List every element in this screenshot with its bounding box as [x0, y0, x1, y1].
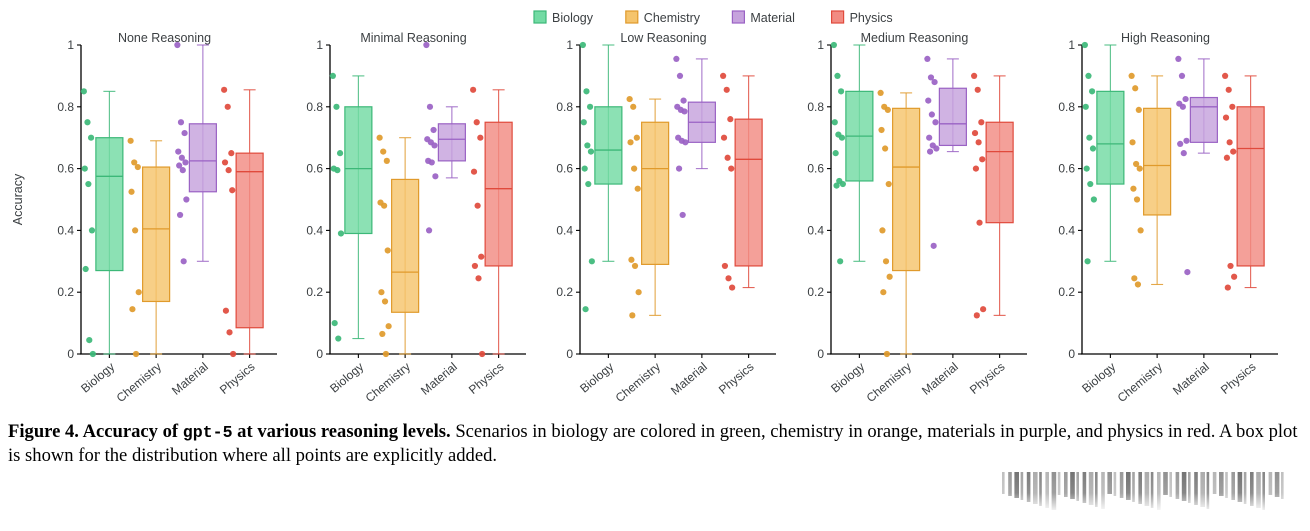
- y-tick-label: 0.2: [57, 285, 74, 299]
- data-point[interactable]: [924, 56, 930, 62]
- data-point[interactable]: [833, 182, 839, 188]
- panel-title: Medium Reasoning: [861, 31, 969, 45]
- data-point[interactable]: [680, 98, 686, 104]
- data-point[interactable]: [181, 258, 187, 264]
- data-point[interactable]: [177, 212, 183, 218]
- box-rect[interactable]: [595, 107, 622, 184]
- data-point[interactable]: [85, 181, 91, 187]
- data-point[interactable]: [582, 166, 588, 172]
- data-point[interactable]: [475, 275, 481, 281]
- legend-label-physics: Physics: [850, 11, 893, 25]
- y-tick-label: 1: [67, 38, 74, 52]
- data-point[interactable]: [673, 56, 679, 62]
- data-point[interactable]: [386, 323, 392, 329]
- data-point[interactable]: [129, 306, 135, 312]
- data-point[interactable]: [635, 186, 641, 192]
- data-point[interactable]: [478, 254, 484, 260]
- data-point[interactable]: [925, 98, 931, 104]
- box-group-chemistry[interactable]: [1129, 73, 1171, 288]
- data-point[interactable]: [1131, 275, 1137, 281]
- y-tick-label: 0.4: [306, 223, 323, 237]
- data-point[interactable]: [1129, 139, 1135, 145]
- data-point[interactable]: [1091, 196, 1097, 202]
- legend-swatch-physics: [832, 11, 844, 23]
- data-point[interactable]: [837, 258, 843, 264]
- data-point[interactable]: [226, 167, 232, 173]
- data-point[interactable]: [83, 266, 89, 272]
- data-point[interactable]: [1175, 56, 1181, 62]
- data-point[interactable]: [181, 130, 187, 136]
- data-point[interactable]: [1136, 107, 1142, 113]
- data-point[interactable]: [423, 42, 429, 48]
- data-point[interactable]: [1130, 186, 1136, 192]
- data-point[interactable]: [333, 104, 339, 110]
- data-point[interactable]: [378, 289, 384, 295]
- x-tick-label-material: Material: [668, 360, 710, 398]
- panel-title: Low Reasoning: [620, 31, 706, 45]
- data-point[interactable]: [332, 320, 338, 326]
- y-tick-label: 0.8: [556, 100, 573, 114]
- x-tick-label-physics: Physics: [716, 360, 757, 397]
- box-rect[interactable]: [893, 108, 920, 270]
- y-tick-label: 0: [67, 347, 74, 361]
- y-tick-label: 0.2: [556, 285, 573, 299]
- data-point[interactable]: [479, 351, 485, 357]
- data-point[interactable]: [1083, 104, 1089, 110]
- data-point[interactable]: [385, 247, 391, 253]
- box-group-material[interactable]: [673, 56, 715, 218]
- x-tick-label-biology: Biology: [327, 360, 366, 396]
- data-point[interactable]: [88, 135, 94, 141]
- data-point[interactable]: [931, 243, 937, 249]
- data-point[interactable]: [973, 166, 979, 172]
- panel-high: High Reasoning00.20.40.60.81BiologyChemi…: [1058, 31, 1278, 405]
- data-point[interactable]: [221, 87, 227, 93]
- data-point[interactable]: [1132, 85, 1138, 91]
- data-point[interactable]: [681, 108, 687, 114]
- y-tick-label: 0.6: [57, 162, 74, 176]
- x-tick-label-chemistry: Chemistry: [613, 360, 663, 405]
- data-point[interactable]: [182, 159, 188, 165]
- x-tick-label-physics: Physics: [967, 360, 1008, 397]
- data-point[interactable]: [427, 104, 433, 110]
- data-point[interactable]: [978, 119, 984, 125]
- x-tick-label-chemistry: Chemistry: [864, 360, 914, 405]
- legend-item-physics: Physics: [832, 11, 893, 25]
- data-point[interactable]: [976, 139, 982, 145]
- data-point[interactable]: [178, 119, 184, 125]
- box-rect[interactable]: [1190, 98, 1217, 143]
- data-point[interactable]: [1137, 166, 1143, 172]
- x-tick-label-biology: Biology: [577, 360, 616, 396]
- legend-label-biology: Biology: [552, 11, 594, 25]
- data-point[interactable]: [1084, 166, 1090, 172]
- box-group-physics[interactable]: [470, 87, 512, 357]
- y-tick-label: 0.6: [1058, 162, 1075, 176]
- data-point[interactable]: [180, 167, 186, 173]
- box-group-material[interactable]: [174, 42, 216, 265]
- data-point[interactable]: [931, 79, 937, 85]
- y-tick-label: 0.2: [807, 285, 824, 299]
- caption-model-name: gpt-5: [183, 423, 233, 442]
- y-tick-label: 0.8: [57, 100, 74, 114]
- data-point[interactable]: [175, 149, 181, 155]
- data-point[interactable]: [972, 130, 978, 136]
- data-point[interactable]: [636, 289, 642, 295]
- data-point[interactable]: [1087, 181, 1093, 187]
- data-point[interactable]: [90, 351, 96, 357]
- box-group-physics[interactable]: [1222, 73, 1264, 291]
- data-point[interactable]: [430, 127, 436, 133]
- y-tick-label: 0.2: [306, 285, 323, 299]
- data-point[interactable]: [976, 220, 982, 226]
- data-point[interactable]: [86, 337, 92, 343]
- data-point[interactable]: [1183, 138, 1189, 144]
- data-point[interactable]: [581, 119, 587, 125]
- box-rect[interactable]: [986, 122, 1013, 222]
- data-point[interactable]: [839, 135, 845, 141]
- data-point[interactable]: [832, 119, 838, 125]
- data-point[interactable]: [335, 335, 341, 341]
- x-tick-label-biology: Biology: [828, 360, 867, 396]
- y-tick-label: 1: [1068, 38, 1075, 52]
- figure-number: Figure 4: [8, 421, 74, 442]
- data-point[interactable]: [933, 145, 939, 151]
- data-point[interactable]: [477, 135, 483, 141]
- box-rect[interactable]: [1237, 107, 1264, 266]
- y-tick-label: 1: [566, 38, 573, 52]
- box-group-chemistry[interactable]: [377, 135, 419, 358]
- data-point[interactable]: [629, 312, 635, 318]
- y-tick-label: 0.6: [306, 162, 323, 176]
- data-point[interactable]: [382, 298, 388, 304]
- data-point[interactable]: [630, 104, 636, 110]
- data-point[interactable]: [980, 306, 986, 312]
- box-group-biology[interactable]: [1082, 42, 1124, 265]
- data-point[interactable]: [426, 227, 432, 233]
- data-point[interactable]: [225, 104, 231, 110]
- data-point[interactable]: [628, 257, 634, 263]
- box-rect[interactable]: [189, 124, 216, 192]
- data-point[interactable]: [384, 158, 390, 164]
- y-tick-label: 0: [1068, 347, 1075, 361]
- x-tick-label-chemistry: Chemistry: [363, 360, 413, 405]
- legend-swatch-material: [732, 11, 744, 23]
- data-point[interactable]: [927, 149, 933, 155]
- data-point[interactable]: [381, 203, 387, 209]
- data-point[interactable]: [1227, 263, 1233, 269]
- y-tick-label: 1: [316, 38, 323, 52]
- data-point[interactable]: [584, 142, 590, 148]
- data-point[interactable]: [472, 263, 478, 269]
- data-point[interactable]: [1082, 42, 1088, 48]
- data-point[interactable]: [680, 212, 686, 218]
- data-point[interactable]: [831, 42, 837, 48]
- panel-medium: Medium Reasoning00.20.40.60.81BiologyChe…: [807, 31, 1027, 405]
- panel-low: Low Reasoning00.20.40.60.81BiologyChemis…: [556, 31, 776, 405]
- data-point[interactable]: [721, 135, 727, 141]
- data-point[interactable]: [883, 258, 889, 264]
- data-point[interactable]: [337, 150, 343, 156]
- data-point[interactable]: [1184, 269, 1190, 275]
- data-point[interactable]: [1229, 104, 1235, 110]
- box-rect[interactable]: [642, 122, 669, 264]
- data-point[interactable]: [432, 173, 438, 179]
- data-point[interactable]: [886, 181, 892, 187]
- x-tick-label-physics: Physics: [466, 360, 507, 397]
- box-rect[interactable]: [485, 122, 512, 266]
- box-group-biology[interactable]: [81, 88, 123, 357]
- data-point[interactable]: [879, 227, 885, 233]
- y-tick-label: 0.2: [1058, 285, 1075, 299]
- panel-title: High Reasoning: [1121, 31, 1210, 45]
- box-rect[interactable]: [735, 119, 762, 266]
- data-point[interactable]: [885, 107, 891, 113]
- box-group-chemistry[interactable]: [128, 138, 170, 357]
- x-tick-label-physics: Physics: [217, 360, 258, 397]
- y-tick-label: 0.4: [1058, 223, 1075, 237]
- caption-title-a: Accuracy of: [83, 421, 183, 442]
- x-tick-label-material: Material: [919, 360, 961, 398]
- y-tick-label: 0.6: [807, 162, 824, 176]
- box-rect[interactable]: [1097, 91, 1124, 184]
- data-point[interactable]: [132, 227, 138, 233]
- data-point[interactable]: [724, 87, 730, 93]
- box-rect[interactable]: [345, 107, 372, 234]
- data-point[interactable]: [634, 135, 640, 141]
- box-rect[interactable]: [96, 138, 123, 271]
- box-group-biology[interactable]: [330, 73, 372, 342]
- legend-label-chemistry: Chemistry: [644, 11, 701, 25]
- data-point[interactable]: [471, 169, 477, 175]
- data-point[interactable]: [228, 150, 234, 156]
- data-point[interactable]: [1138, 227, 1144, 233]
- data-point[interactable]: [979, 156, 985, 162]
- box-group-biology[interactable]: [831, 42, 873, 265]
- data-point[interactable]: [833, 150, 839, 156]
- data-point[interactable]: [1181, 150, 1187, 156]
- data-point[interactable]: [974, 312, 980, 318]
- data-point[interactable]: [338, 230, 344, 236]
- data-point[interactable]: [589, 258, 595, 264]
- legend-label-material: Material: [750, 11, 794, 25]
- data-point[interactable]: [834, 73, 840, 79]
- data-point[interactable]: [971, 73, 977, 79]
- data-point[interactable]: [183, 196, 189, 202]
- data-point[interactable]: [1084, 258, 1090, 264]
- box-rect[interactable]: [1144, 108, 1171, 215]
- legend-item-biology: Biology: [534, 11, 594, 25]
- data-point[interactable]: [222, 159, 228, 165]
- data-point[interactable]: [887, 274, 893, 280]
- caption-sep: .: [74, 421, 82, 442]
- data-point[interactable]: [728, 166, 734, 172]
- data-point[interactable]: [334, 167, 340, 173]
- box-group-biology[interactable]: [580, 42, 622, 312]
- data-point[interactable]: [587, 104, 593, 110]
- data-point[interactable]: [330, 73, 336, 79]
- data-point[interactable]: [1086, 135, 1092, 141]
- legend-item-chemistry: Chemistry: [626, 11, 701, 25]
- data-point[interactable]: [631, 166, 637, 172]
- data-point[interactable]: [840, 181, 846, 187]
- data-point[interactable]: [880, 289, 886, 295]
- box-group-physics[interactable]: [221, 87, 263, 357]
- data-point[interactable]: [627, 96, 633, 102]
- data-point[interactable]: [223, 308, 229, 314]
- data-point[interactable]: [729, 284, 735, 290]
- data-point[interactable]: [133, 351, 139, 357]
- data-point[interactable]: [1223, 115, 1229, 121]
- data-point[interactable]: [1129, 73, 1135, 79]
- data-point[interactable]: [226, 329, 232, 335]
- y-tick-label: 0.8: [1058, 100, 1075, 114]
- legend-swatch-chemistry: [626, 11, 638, 23]
- data-point[interactable]: [1135, 281, 1141, 287]
- x-tick-label-biology: Biology: [1079, 360, 1118, 396]
- data-point[interactable]: [84, 119, 90, 125]
- data-point[interactable]: [627, 139, 633, 145]
- box-rect[interactable]: [143, 167, 170, 301]
- data-point[interactable]: [379, 331, 385, 337]
- panel-none: None Reasoning00.20.40.60.81BiologyChemi…: [57, 31, 277, 405]
- y-axis-title: Accuracy: [11, 173, 25, 225]
- data-point[interactable]: [431, 142, 437, 148]
- y-tick-label: 0.4: [556, 223, 573, 237]
- figure-caption: Figure 4. Accuracy of gpt-5 at various r…: [8, 420, 1303, 468]
- box-group-material[interactable]: [423, 42, 465, 234]
- data-point[interactable]: [582, 306, 588, 312]
- legend: BiologyChemistryMaterialPhysics: [534, 11, 893, 25]
- data-point[interactable]: [174, 42, 180, 48]
- panel-title: None Reasoning: [118, 31, 211, 45]
- box-group-material[interactable]: [924, 56, 966, 249]
- y-tick-label: 0.8: [807, 100, 824, 114]
- data-point[interactable]: [136, 289, 142, 295]
- data-point[interactable]: [725, 155, 731, 161]
- data-point[interactable]: [1179, 73, 1185, 79]
- y-tick-label: 0.4: [57, 223, 74, 237]
- data-point[interactable]: [475, 203, 481, 209]
- y-tick-label: 1: [817, 38, 824, 52]
- data-point[interactable]: [1227, 139, 1233, 145]
- box-group-physics[interactable]: [720, 73, 762, 291]
- y-tick-label: 0.6: [556, 162, 573, 176]
- data-point[interactable]: [926, 135, 932, 141]
- boxplot-figure: BiologyChemistryMaterialPhysicsNone Reas…: [0, 0, 1310, 420]
- data-point[interactable]: [583, 88, 589, 94]
- data-point[interactable]: [722, 263, 728, 269]
- data-point[interactable]: [677, 73, 683, 79]
- data-point[interactable]: [135, 164, 141, 170]
- data-point[interactable]: [585, 181, 591, 187]
- x-tick-label-physics: Physics: [1218, 360, 1259, 397]
- data-point[interactable]: [632, 263, 638, 269]
- data-point[interactable]: [975, 87, 981, 93]
- data-point[interactable]: [128, 189, 134, 195]
- x-tick-label-material: Material: [169, 360, 211, 398]
- x-tick-label-chemistry: Chemistry: [1115, 360, 1165, 405]
- box-group-chemistry[interactable]: [627, 96, 669, 319]
- data-point[interactable]: [89, 227, 95, 233]
- x-tick-label-material: Material: [418, 360, 460, 398]
- data-point[interactable]: [1226, 87, 1232, 93]
- data-point[interactable]: [878, 90, 884, 96]
- y-tick-label: 0: [817, 347, 824, 361]
- box-rect[interactable]: [438, 124, 465, 161]
- data-point[interactable]: [474, 119, 480, 125]
- data-point[interactable]: [470, 87, 476, 93]
- data-point[interactable]: [1177, 141, 1183, 147]
- data-point[interactable]: [1134, 196, 1140, 202]
- data-point[interactable]: [128, 138, 134, 144]
- data-point[interactable]: [1182, 96, 1188, 102]
- data-point[interactable]: [838, 88, 844, 94]
- data-point[interactable]: [588, 149, 594, 155]
- data-point[interactable]: [929, 111, 935, 117]
- data-point[interactable]: [1225, 284, 1231, 290]
- data-point[interactable]: [380, 149, 386, 155]
- data-point[interactable]: [230, 351, 236, 357]
- y-tick-label: 0: [566, 347, 573, 361]
- x-tick-label-material: Material: [1170, 360, 1212, 398]
- caption-title-b: at various reasoning levels.: [233, 421, 451, 442]
- legend-swatch-biology: [534, 11, 546, 23]
- data-point[interactable]: [1090, 145, 1096, 151]
- data-point[interactable]: [1180, 104, 1186, 110]
- box-group-material[interactable]: [1175, 56, 1217, 275]
- data-point[interactable]: [1230, 149, 1236, 155]
- panel-title: Minimal Reasoning: [360, 31, 466, 45]
- data-point[interactable]: [429, 159, 435, 165]
- box-rect[interactable]: [939, 88, 966, 145]
- data-point[interactable]: [1224, 155, 1230, 161]
- data-point[interactable]: [1085, 73, 1091, 79]
- data-point[interactable]: [882, 145, 888, 151]
- data-point[interactable]: [682, 139, 688, 145]
- panel-minimal: Minimal Reasoning00.20.40.60.81BiologyCh…: [306, 31, 526, 405]
- data-point[interactable]: [720, 73, 726, 79]
- data-point[interactable]: [878, 127, 884, 133]
- data-point[interactable]: [81, 88, 87, 94]
- y-tick-label: 0: [316, 347, 323, 361]
- data-point[interactable]: [580, 42, 586, 48]
- data-point[interactable]: [676, 166, 682, 172]
- y-tick-label: 0.8: [306, 100, 323, 114]
- box-group-physics[interactable]: [971, 73, 1013, 319]
- data-point[interactable]: [383, 351, 389, 357]
- legend-item-material: Material: [732, 11, 794, 25]
- y-tick-label: 0.4: [807, 223, 824, 237]
- data-point[interactable]: [725, 275, 731, 281]
- data-point[interactable]: [884, 351, 890, 357]
- box-rect[interactable]: [236, 153, 263, 328]
- data-point[interactable]: [1222, 73, 1228, 79]
- data-point[interactable]: [932, 119, 938, 125]
- data-point[interactable]: [1231, 274, 1237, 280]
- data-point[interactable]: [377, 135, 383, 141]
- data-point[interactable]: [727, 116, 733, 122]
- x-tick-label-biology: Biology: [78, 360, 117, 396]
- box-group-chemistry[interactable]: [878, 90, 920, 357]
- data-point[interactable]: [82, 166, 88, 172]
- box-rect[interactable]: [392, 179, 419, 312]
- data-point[interactable]: [229, 187, 235, 193]
- data-point[interactable]: [1089, 88, 1095, 94]
- x-tick-label-chemistry: Chemistry: [114, 360, 164, 405]
